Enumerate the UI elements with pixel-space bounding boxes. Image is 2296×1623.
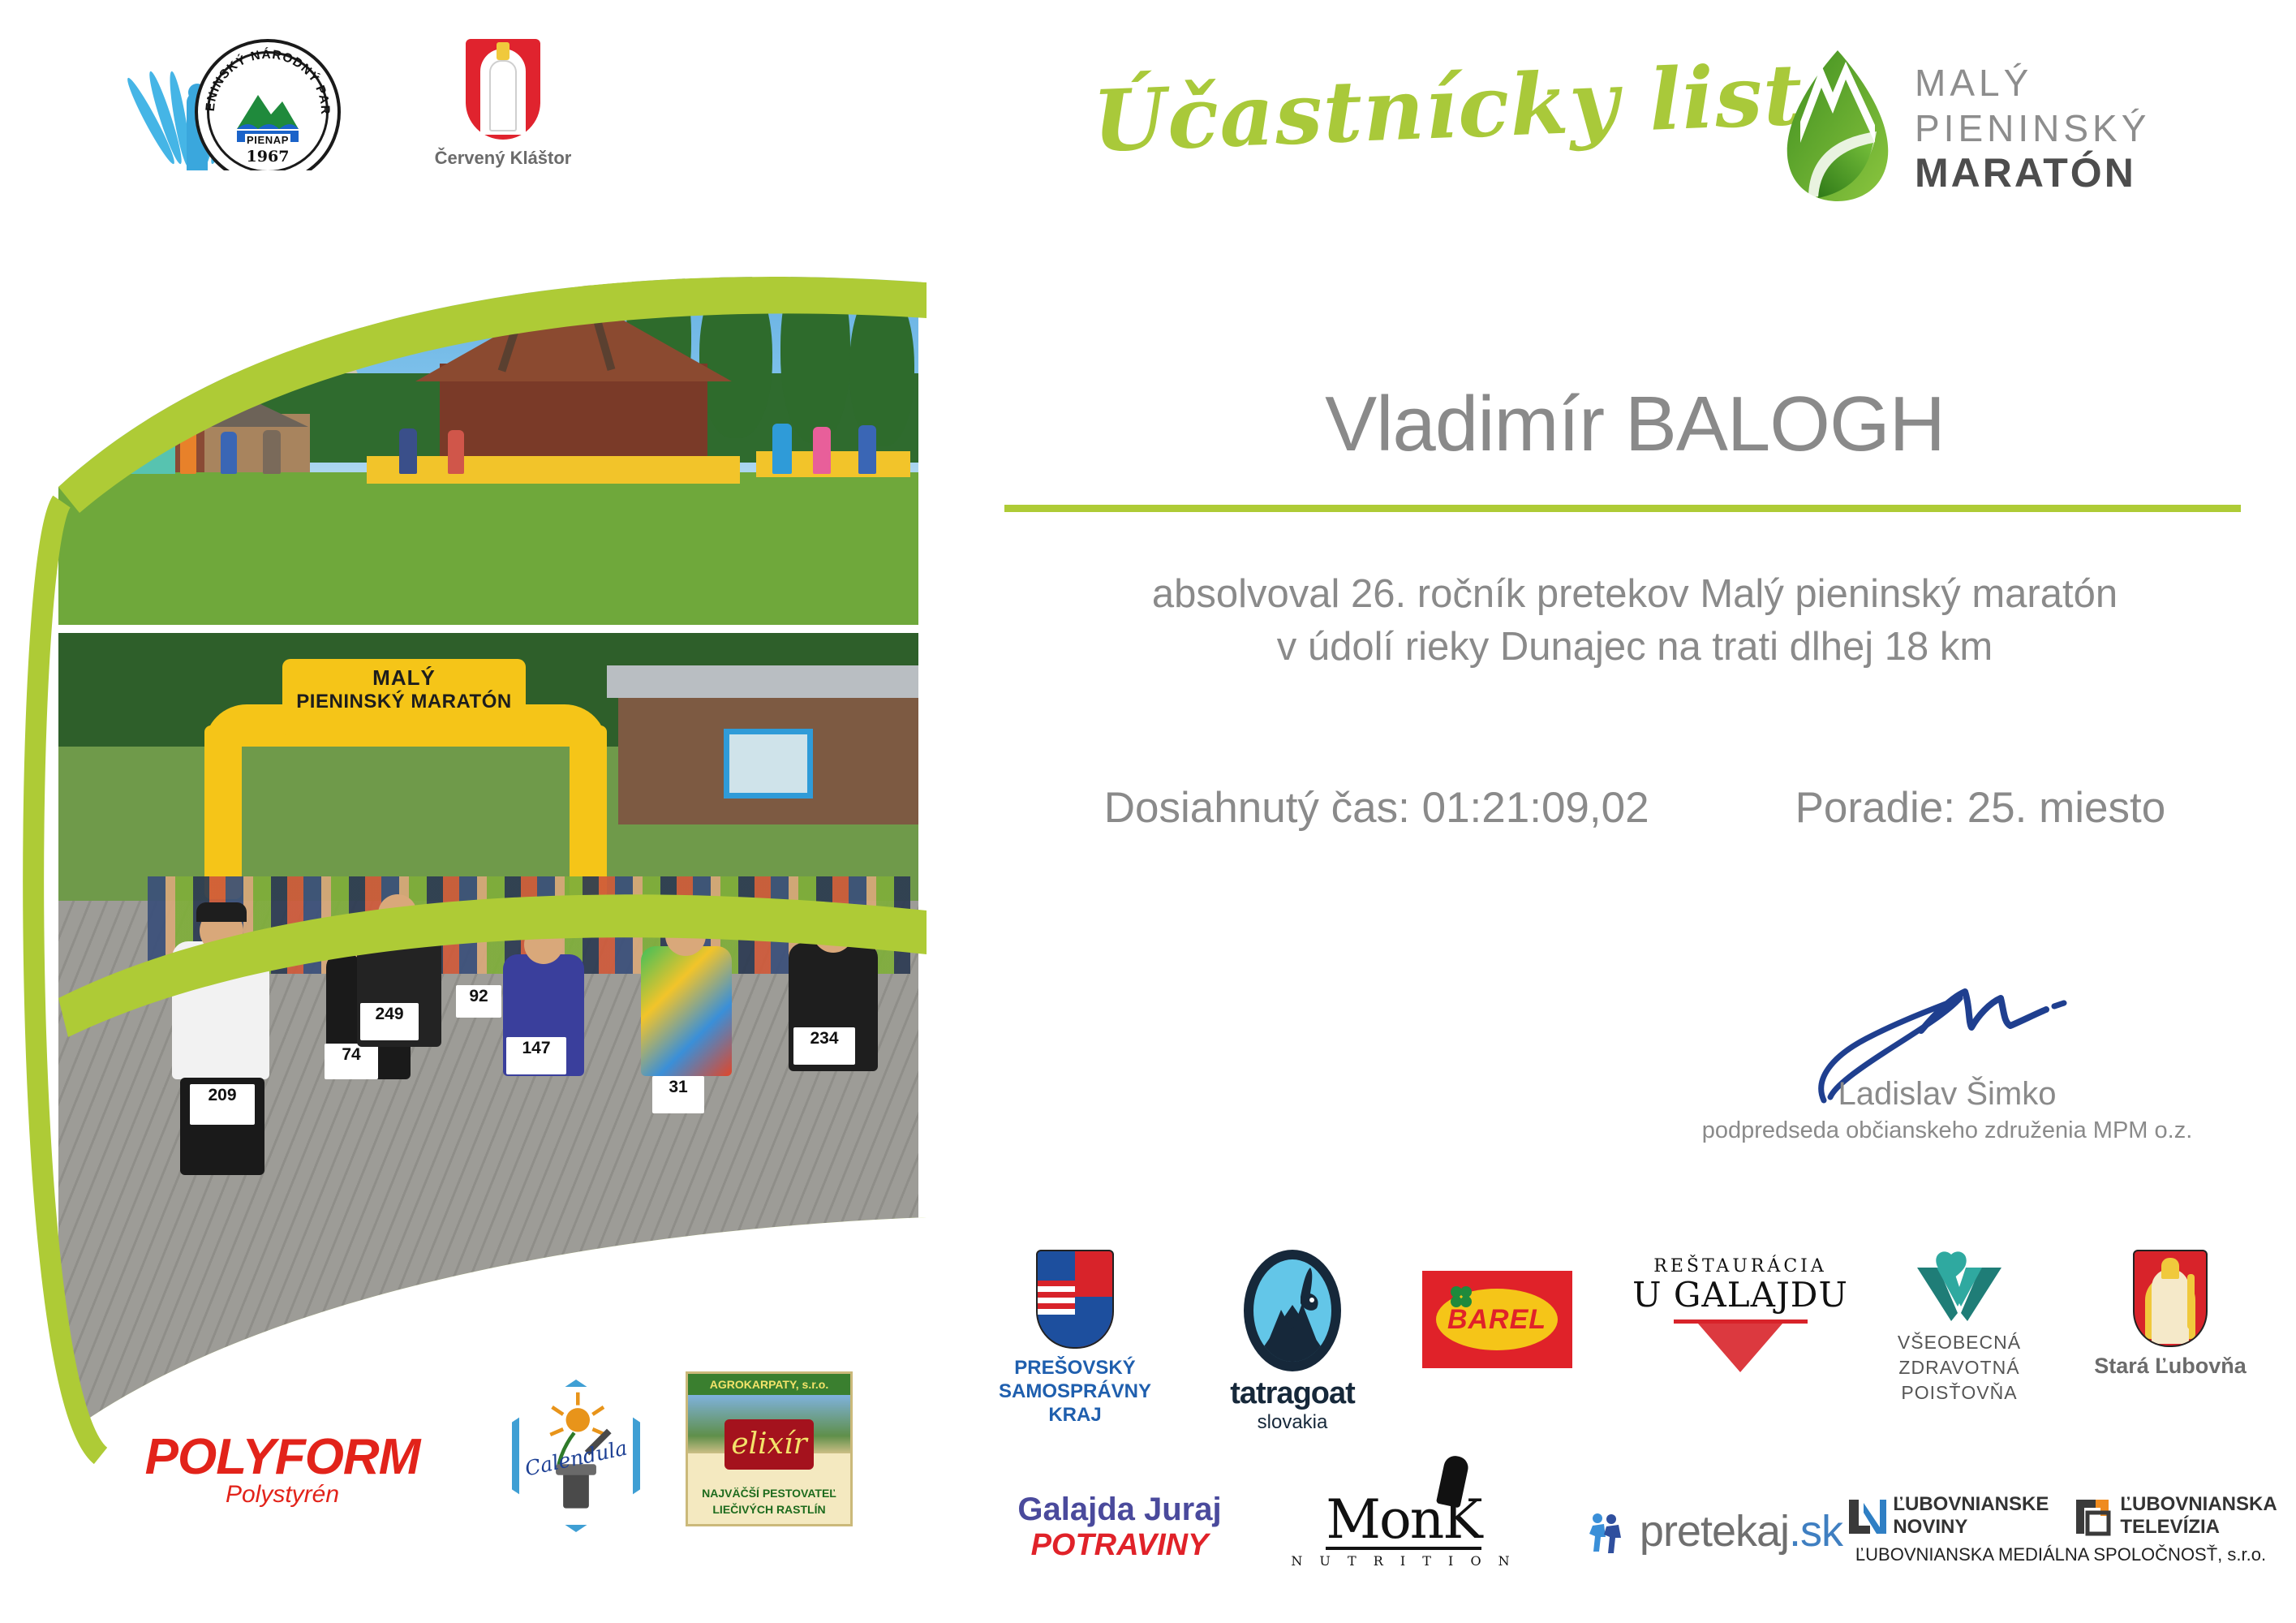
agrokarpaty-badge: elixír (724, 1419, 814, 1470)
psk-line3: KRAJ (974, 1404, 1176, 1427)
sponsor-logo-presovsky-kraj: PREŠOVSKÝ SAMOSPRÁVNY KRAJ (974, 1250, 1176, 1427)
finish-place: Poradie: 25. miesto (1795, 783, 2166, 833)
presovsky-coat-of-arms-icon (1036, 1250, 1114, 1349)
sponsor-logo-pretekaj-sk: pretekaj.sk (1582, 1506, 1850, 1556)
sponsor-logo-barel: BAREL (1404, 1271, 1590, 1368)
sponsor-logo-lubovnianska-medialna: ĽUBOVNIANSKE NOVINY ĽUBOVNIANSKA TELEVÍZ… (1850, 1493, 2272, 1565)
tatragoat-name: tatragoat (1199, 1376, 1386, 1411)
vszp-heart-icon (1911, 1250, 2008, 1321)
vszp-line3: POISŤOVŇA (1866, 1380, 2053, 1406)
agrokarpaty-line2: LIEČIVÝCH RASTLÍN (688, 1503, 850, 1516)
vszp-line1: VŠEOBECNÁ (1866, 1330, 2053, 1355)
certificate-description: absolvoval 26. ročník pretekov Malý pien… (1010, 568, 2259, 673)
agrokarpaty-line1: NAJVÄČŠÍ PESTOVATEĽ (688, 1487, 850, 1500)
sponsor-logo-galajda-juraj: Galajda Juraj POTRAVINY (998, 1492, 1241, 1563)
tatragoat-sub: slovakia (1199, 1411, 1386, 1434)
sponsor-logo-polyform: POLYFORM Polystyrén (112, 1428, 453, 1509)
lubovnianske-noviny-mark-icon (1844, 1495, 1886, 1537)
start-arch: MALÝ PIENINSKÝ MARATÓN (195, 656, 617, 899)
signature-block: Ladislav Šimko podpredseda občianskeho z… (1639, 982, 2255, 1144)
galajda-line1: Galajda Juraj (998, 1492, 1241, 1528)
calendula-hexagon-icon: Calendula (512, 1380, 640, 1532)
result-row: Dosiahnutý čas: 01:21:09,02 Poradie: 25.… (1010, 783, 2259, 833)
sponsor-logo-tatragoat: tatragoat slovakia (1199, 1250, 1386, 1434)
runner-bib: 147 (506, 1037, 566, 1074)
sponsor-logo-agrokarpaty: AGROKARPATY, s.r.o. PLAVNICA elixír NAJV… (680, 1371, 858, 1526)
brand-logo-line2: PIENINSKÝ (1915, 105, 2150, 151)
runner-foreground (172, 941, 269, 1079)
title-divider (1004, 505, 2241, 512)
brand-logo-maly-pieninsky-maraton: MALÝ PIENINSKÝ MARATÓN (1773, 47, 2259, 201)
sponsor-logo-monk-nutrition: MonK N U T R I T I O N (1290, 1493, 1517, 1569)
stara-lubovna-name: Stará Ľubovňa (2085, 1354, 2255, 1379)
arch-text-line2: PIENINSKÝ MARATÓN (282, 691, 526, 713)
participant-name: Vladimír BALOGH (1010, 380, 2259, 469)
description-line-2: v údolí rieky Dunajec na trati dlhej 18 … (1010, 621, 2259, 674)
lt-line1: ĽUBOVNIANSKA (2120, 1493, 2277, 1516)
runner-bib: 74 (325, 1044, 378, 1079)
signatory-role: podpredseda občianskeho združenia MPM o.… (1639, 1117, 2255, 1144)
page-title: Účastnícky list (1008, 41, 1888, 174)
sponsor-logo-vszp: VŠEOBECNÁ ZDRAVOTNÁ POISŤOVŇA (1866, 1250, 2053, 1406)
stara-lubovna-coat-of-arms-icon (2133, 1250, 2208, 1347)
photo-race-start: MALÝ PIENINSKÝ MARATÓN 209 74 249 92 147… (58, 633, 918, 1453)
ln-line2: NOVINY (1893, 1516, 2049, 1539)
galajda-line2: POTRAVINY (998, 1528, 1241, 1563)
finish-time: Dosiahnutý čas: 01:21:09,02 (1104, 783, 1649, 833)
runners-icon (1584, 1509, 1636, 1561)
lubovnianska-televizia-mark-icon (2071, 1495, 2113, 1537)
signatory-name: Ladislav Šimko (1639, 1076, 2255, 1113)
sponsor-logo-calendula: Calendula (495, 1380, 657, 1532)
leaf-mountain-logo-icon (1773, 47, 1903, 201)
ugalajdu-line2: U GALAJDU (1623, 1275, 1858, 1315)
folk-ornament-icon (1698, 1324, 1782, 1372)
runner-bib: 92 (456, 985, 501, 1018)
psk-line1: PREŠOVSKÝ (974, 1357, 1176, 1380)
agrokarpaty-label-icon: AGROKARPATY, s.r.o. PLAVNICA elixír NAJV… (686, 1371, 853, 1526)
ugalajdu-line1: REŠTAURÁCIA (1623, 1256, 1858, 1276)
polyform-name: POLYFORM (112, 1428, 453, 1486)
lt-line2: TELEVÍZIA (2120, 1516, 2277, 1539)
pretekaj-name: pretekaj (1640, 1507, 1789, 1556)
tatragoat-mountain-goat-icon (1244, 1250, 1341, 1371)
runner-bib: 209 (190, 1084, 255, 1125)
event-photo-collage: MALÝ PIENINSKÝ MARATÓN 209 74 249 92 147… (58, 146, 918, 1461)
arch-text-line1: MALÝ (282, 665, 526, 691)
brand-logo-line3: MARATÓN (1915, 151, 2150, 196)
description-line-1: absolvoval 26. ročník pretekov Malý pien… (1010, 568, 2259, 621)
sponsor-logo-stara-lubovna: Stará Ľubovňa (2085, 1250, 2255, 1379)
monk-sub: N U T R I T I O N (1290, 1553, 1517, 1569)
agrokarpaty-top: AGROKARPATY, s.r.o. PLAVNICA (688, 1374, 850, 1395)
barel-badge-icon: BAREL (1422, 1271, 1572, 1368)
runner-bib: 31 (652, 1076, 704, 1113)
coat-of-arms-icon (466, 39, 540, 140)
ln-line1: ĽUBOVNIANSKE (1893, 1493, 2049, 1516)
vszp-line2: ZDRAVOTNÁ (1866, 1355, 2053, 1380)
photo-venue-overview (58, 170, 918, 625)
pienap-badge-label: PIENAP (245, 134, 290, 146)
psk-line2: SAMOSPRÁVNY (974, 1380, 1176, 1404)
runner-bib: 249 (360, 1003, 419, 1040)
lms-footer: ĽUBOVNIANSKA MEDIÁLNA SPOLOČNOSŤ, s.r.o. (1850, 1544, 2272, 1565)
runner-bib: 234 (793, 1027, 855, 1065)
pretekaj-tld: .sk (1789, 1507, 1842, 1556)
sponsor-logo-u-galajdu: REŠTAURÁCIA U GALAJDU (1623, 1256, 1858, 1372)
brand-logo-line1: MALÝ (1915, 60, 2150, 105)
